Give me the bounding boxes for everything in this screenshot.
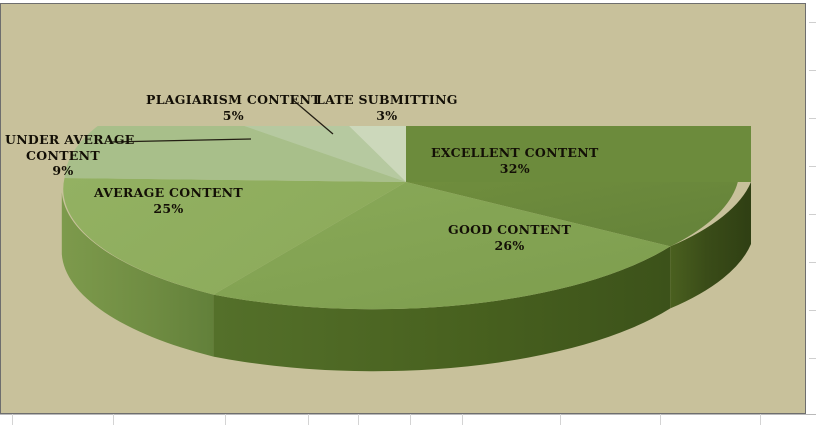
pie-label-average-name: AVERAGE CONTENT	[94, 185, 243, 200]
pie-label-good: GOOD CONTENT 26%	[448, 222, 571, 253]
pie-label-good-name: GOOD CONTENT	[448, 222, 571, 237]
pie-label-under-average-name-line2: CONTENT	[5, 148, 121, 164]
pie-label-under-average-name-line1: UNDER AVERAGE	[5, 132, 135, 147]
scrollbar-tick	[809, 214, 816, 215]
scrollbar-tick	[809, 358, 816, 359]
pie-label-late-submitting-name: LATE SUBMITTING	[316, 92, 458, 107]
pie-label-plagiarism-percent: 5%	[146, 108, 321, 124]
sheet-column-line	[462, 414, 463, 425]
sheet-column-line	[113, 414, 114, 425]
pie-label-late-submitting-percent: 3%	[316, 108, 458, 124]
sheet-column-line	[12, 414, 13, 425]
pie-label-average-percent: 25%	[94, 201, 243, 217]
scrollbar-tick	[809, 262, 816, 263]
scrollbar-tick	[809, 310, 816, 311]
sheet-row-line	[0, 414, 816, 415]
sheet-column-line	[660, 414, 661, 425]
pie-label-under-average-percent: 9%	[5, 163, 121, 179]
pie-label-plagiarism: PLAGIARISM CONTENT 5%	[146, 92, 321, 123]
sheet-column-line	[760, 414, 761, 425]
scrollbar-tick	[809, 166, 816, 167]
scrollbar-tick	[809, 118, 816, 119]
sheet-column-line	[410, 414, 411, 425]
pie-label-under-average: UNDER AVERAGE CONTENT 9%	[5, 132, 121, 179]
pie-label-excellent-percent: 32%	[431, 161, 599, 177]
screenshot-root: STATISTICS HOMEWORK TASKS	[0, 0, 816, 425]
pie-label-good-percent: 26%	[448, 238, 571, 254]
scrollbar-tick	[809, 22, 816, 23]
pie-label-excellent: EXCELLENT CONTENT 32%	[431, 145, 599, 176]
pie-label-late-submitting: LATE SUBMITTING 3%	[316, 92, 458, 123]
sheet-column-line	[560, 414, 561, 425]
pie-label-plagiarism-name: PLAGIARISM CONTENT	[146, 92, 321, 107]
chart-object[interactable]: STATISTICS HOMEWORK TASKS	[0, 3, 806, 414]
scrollbar-tick	[809, 70, 816, 71]
sheet-column-line	[308, 414, 309, 425]
pie-label-average: AVERAGE CONTENT 25%	[94, 185, 243, 216]
sheet-column-line	[358, 414, 359, 425]
sheet-column-line	[225, 414, 226, 425]
pie-label-excellent-name: EXCELLENT CONTENT	[431, 145, 599, 160]
